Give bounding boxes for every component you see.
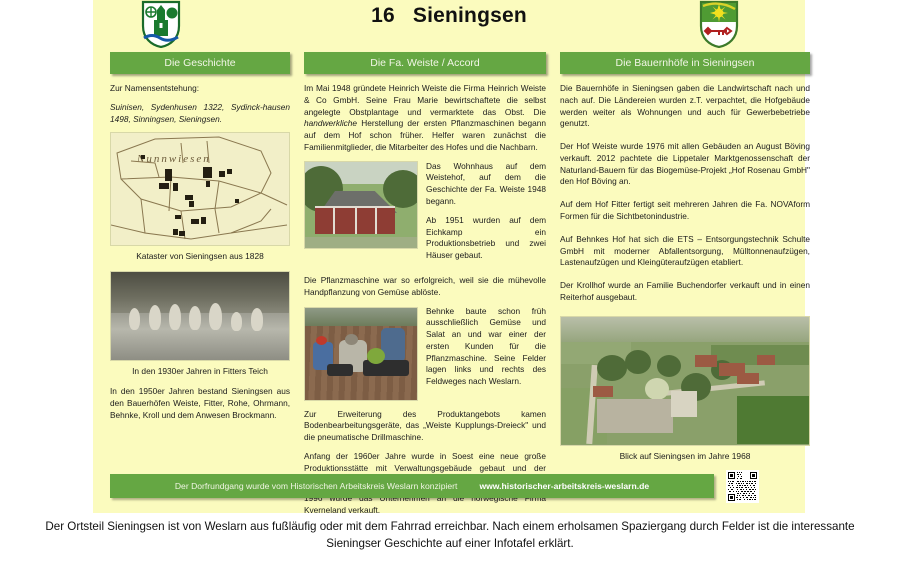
weiste-founding-paragraph: Im Mai 1948 gründete Heinrich Weiste die… [304,83,546,154]
weiste-p1-a: Im Mai 1948 gründete Heinrich Weiste die… [304,83,546,117]
cadastral-map-image: Nunnwiesen [110,132,290,246]
board-header: 16Sieningsen [93,0,805,52]
caption-pond-photo: In den 1930er Jahren in Fitters Teich [110,366,290,376]
section-heading-farms: Die Bauernhöfe in Sieningsen [560,52,810,74]
weiste-p1-italic: handwerkliche [304,118,357,128]
sieningsen-coat-of-arms-icon [693,0,745,48]
board-name: Sieningsen [413,4,527,27]
board-columns: Die Geschichte Zur Namensentstehung: Sui… [93,52,805,517]
footer-credit: Der Dorfrundgang wurde vom Historischen … [175,481,458,491]
caption-cadastral-map: Kataster von Sieningsen aus 1828 [110,251,290,261]
column-weiste: Die Fa. Weiste / Accord Im Mai 1948 grün… [304,52,546,517]
qr-code-icon[interactable] [726,470,759,503]
weiste-machine-success: Die Pflanzmaschine war so erfolgreich, w… [304,275,546,299]
section-heading-weiste: Die Fa. Weiste / Accord [304,52,546,74]
weistehof-farmhouse-photo [304,161,418,249]
column-history: Die Geschichte Zur Namensentstehung: Sui… [110,52,290,517]
history-intro: Zur Namensentstehung: [110,83,290,95]
footer-bar: Der Dorfrundgang wurde vom Historischen … [110,474,714,498]
section-heading-history: Die Geschichte [110,52,290,74]
screenshot-root: 16Sieningsen [0,0,900,563]
farms-fitter-text: Auf dem Hof Fitter fertigt seit mehreren… [560,199,810,223]
page-caption: Der Ortsteil Sieningsen ist von Weslarn … [20,519,880,553]
column-farms: Die Bauernhöfe in Sieningsen Die Bauernh… [560,52,810,517]
planting-machine-photo [304,307,418,401]
board-number: 16 [371,4,395,27]
farms-general-text: Die Bauernhöfe in Sieningsen gaben die L… [560,83,810,130]
info-board: 16Sieningsen [93,0,805,513]
farms-behnke-text: Auf Behnkes Hof hat sich die ETS – Entso… [560,234,810,269]
pond-trees [111,272,289,314]
weiste-products-text: Zur Erweiterung des Produktangebots kame… [304,409,546,444]
history-farms-1950s: In den 1950er Jahren bestand Sieningsen … [110,386,290,421]
footer-website-link[interactable]: www.historischer-arbeitskreis-weslarn.de [479,481,649,491]
history-names: Suinisen, Sydenhusen 1322, Sydinck-hause… [110,102,290,126]
pond-photo-1930s [110,271,290,361]
farms-weiste-text: Der Hof Weiste wurde 1976 mit allen Gebä… [560,141,810,188]
caption-aerial-view: Blick auf Sieningsen im Jahre 1968 [560,451,810,461]
farms-krollhof-text: Der Krollhof wurde an Familie Buchendorf… [560,280,810,304]
aerial-view-photo-1968 [560,316,810,446]
